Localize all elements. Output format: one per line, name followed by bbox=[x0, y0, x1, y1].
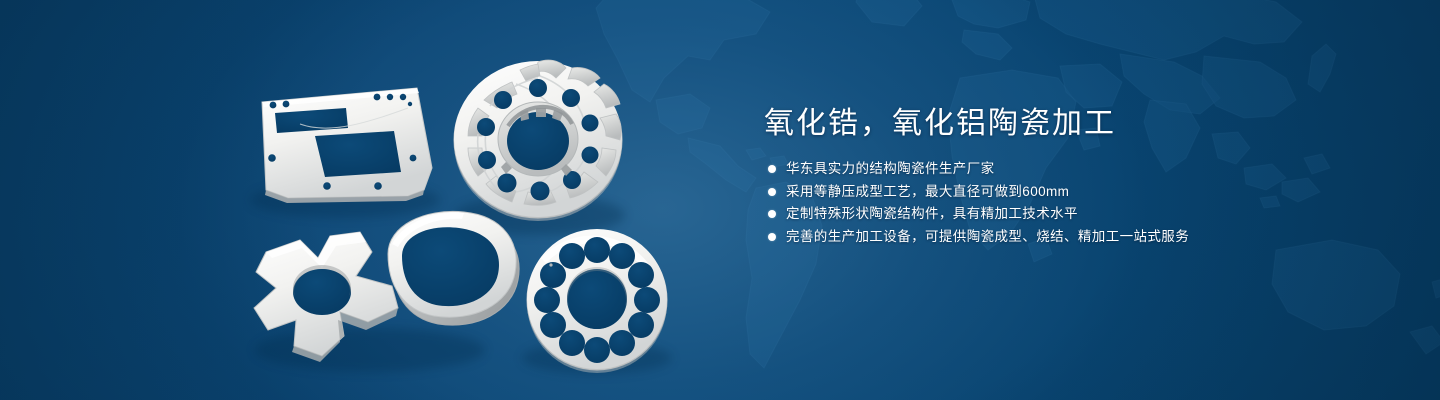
page-title: 氧化锆，氧化铝陶瓷加工 bbox=[764, 104, 1404, 144]
list-item: 采用等静压成型工艺，最大直径可做到600mm bbox=[764, 181, 1404, 203]
ceramic-plate-with-cutouts bbox=[262, 88, 432, 203]
product-photo-group bbox=[0, 0, 720, 400]
ceramic-thin-rings bbox=[388, 211, 519, 325]
ceramic-perforated-ring bbox=[527, 229, 667, 373]
hero-banner: 氧化锆，氧化铝陶瓷加工 华东具实力的结构陶瓷件生产厂家 采用等静压成型工艺，最大… bbox=[0, 0, 1440, 400]
list-item: 完善的生产加工设备，可提供陶瓷成型、烧结、精加工一站式服务 bbox=[764, 226, 1404, 248]
list-item: 华东具实力的结构陶瓷件生产厂家 bbox=[764, 158, 1404, 180]
feature-text: 定制特殊形状陶瓷结构件，具有精加工技术水平 bbox=[786, 203, 1078, 225]
feature-text: 完善的生产加工设备，可提供陶瓷成型、烧结、精加工一站式服务 bbox=[786, 226, 1189, 248]
list-item: 定制特殊形状陶瓷结构件，具有精加工技术水平 bbox=[764, 203, 1404, 225]
banner-copy: 氧化锆，氧化铝陶瓷加工 华东具实力的结构陶瓷件生产厂家 采用等静压成型工艺，最大… bbox=[764, 104, 1404, 248]
ceramic-impeller-rotor bbox=[454, 60, 622, 221]
feature-list: 华东具实力的结构陶瓷件生产厂家 采用等静压成型工艺，最大直径可做到600mm 定… bbox=[764, 158, 1404, 248]
bullet-dot-icon bbox=[768, 233, 776, 241]
bullet-dot-icon bbox=[768, 210, 776, 218]
bullet-dot-icon bbox=[768, 188, 776, 196]
bullet-dot-icon bbox=[768, 165, 776, 173]
feature-text: 华东具实力的结构陶瓷件生产厂家 bbox=[786, 158, 995, 180]
feature-text: 采用等静压成型工艺，最大直径可做到600mm bbox=[786, 181, 1069, 203]
